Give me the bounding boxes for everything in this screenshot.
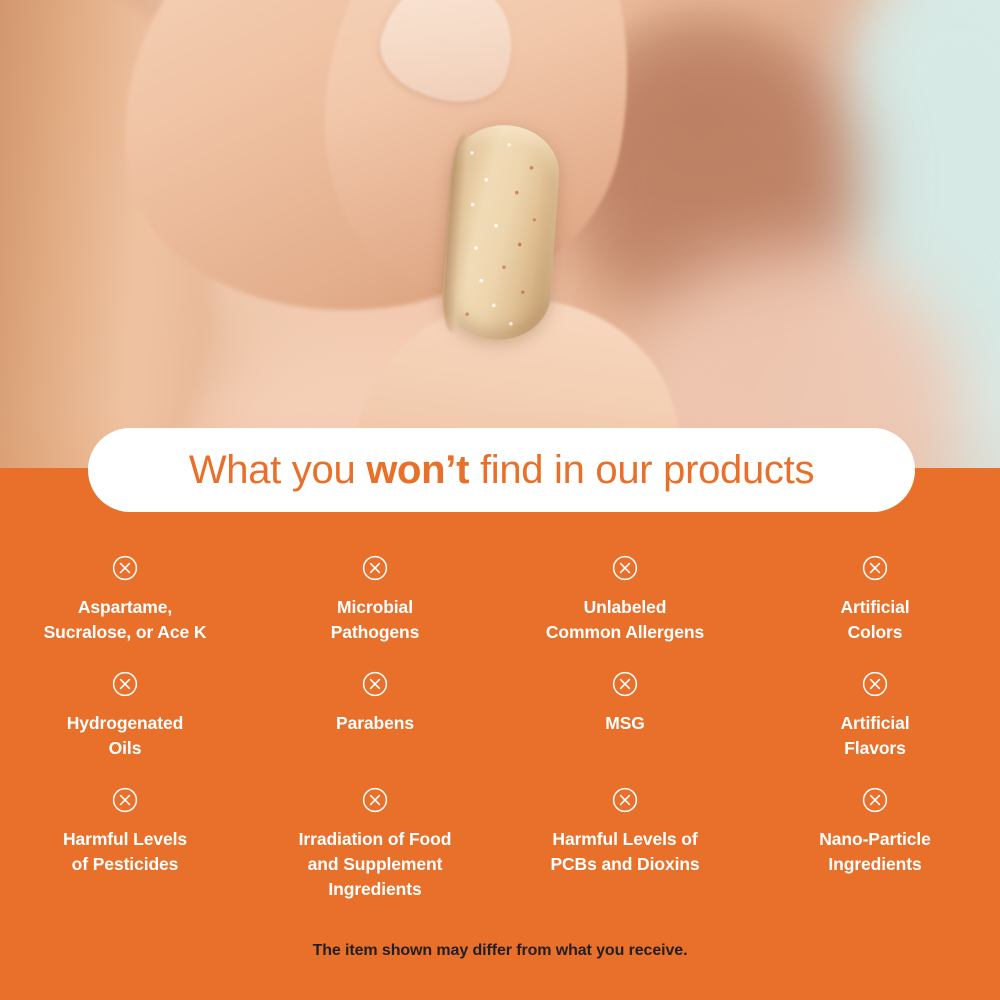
claim-item-label: Harmful Levelsof Pesticides bbox=[63, 827, 187, 877]
claim-item-artificial-colors: ArtificialColors bbox=[750, 545, 1000, 661]
claim-item-label: Irradiation of Foodand SupplementIngredi… bbox=[299, 827, 452, 902]
claim-item-label: ArtificialFlavors bbox=[840, 711, 909, 761]
claim-item-irradiation-food-supplement-ingredients: Irradiation of Foodand SupplementIngredi… bbox=[250, 777, 500, 893]
claims-grid: Aspartame,Sucralose, or Ace KMicrobialPa… bbox=[0, 545, 1000, 893]
claim-item-artificial-flavors: ArtificialFlavors bbox=[750, 661, 1000, 777]
circle-x-icon bbox=[612, 671, 638, 697]
hand-holding-tablet-photo bbox=[0, 0, 1000, 470]
claim-item-harmful-levels-pesticides: Harmful Levelsof Pesticides bbox=[0, 777, 250, 893]
circle-x-icon bbox=[362, 671, 388, 697]
claim-item-label: MicrobialPathogens bbox=[331, 595, 420, 645]
circle-x-icon bbox=[112, 555, 138, 581]
claim-item-hydrogenated-oils: HydrogenatedOils bbox=[0, 661, 250, 777]
circle-x-icon bbox=[612, 555, 638, 581]
claim-item-label: HydrogenatedOils bbox=[67, 711, 183, 761]
page-title-emphasis: won’t bbox=[366, 448, 469, 492]
circle-x-icon bbox=[112, 787, 138, 813]
claim-item-label: Parabens bbox=[336, 711, 414, 736]
claim-item-label: ArtificialColors bbox=[840, 595, 909, 645]
page-title-suffix: find in our products bbox=[469, 448, 814, 492]
claim-item-label: Nano-ParticleIngredients bbox=[819, 827, 931, 877]
claim-item-nano-particle-ingredients: Nano-ParticleIngredients bbox=[750, 777, 1000, 893]
page-title-prefix: What you bbox=[189, 448, 366, 492]
disclaimer-text: The item shown may differ from what you … bbox=[313, 942, 688, 959]
claim-item-harmful-levels-pcbs-dioxins: Harmful Levels ofPCBs and Dioxins bbox=[500, 777, 750, 893]
claim-item-unlabeled-common-allergens: UnlabeledCommon Allergens bbox=[500, 545, 750, 661]
circle-x-icon bbox=[862, 671, 888, 697]
page-title: What you won’t find in our products bbox=[189, 448, 814, 493]
claim-item-aspartame-sucralose-ace-k: Aspartame,Sucralose, or Ace K bbox=[0, 545, 250, 661]
claim-item-label: Harmful Levels ofPCBs and Dioxins bbox=[550, 827, 699, 877]
circle-x-icon bbox=[862, 787, 888, 813]
footer: The item shown may differ from what you … bbox=[0, 942, 1000, 960]
claim-item-label: UnlabeledCommon Allergens bbox=[546, 595, 704, 645]
circle-x-icon bbox=[362, 555, 388, 581]
product-claims-graphic: What you won’t find in our products Aspa… bbox=[0, 0, 1000, 1000]
circle-x-icon bbox=[362, 787, 388, 813]
claim-item-parabens: Parabens bbox=[250, 661, 500, 777]
claim-item-msg: MSG bbox=[500, 661, 750, 777]
circle-x-icon bbox=[862, 555, 888, 581]
circle-x-icon bbox=[612, 787, 638, 813]
background-bokeh-right bbox=[830, 0, 1000, 380]
claim-item-label: Aspartame,Sucralose, or Ace K bbox=[44, 595, 207, 645]
claim-item-microbial-pathogens: MicrobialPathogens bbox=[250, 545, 500, 661]
circle-x-icon bbox=[112, 671, 138, 697]
title-pill: What you won’t find in our products bbox=[88, 428, 915, 512]
claim-item-label: MSG bbox=[605, 711, 645, 736]
